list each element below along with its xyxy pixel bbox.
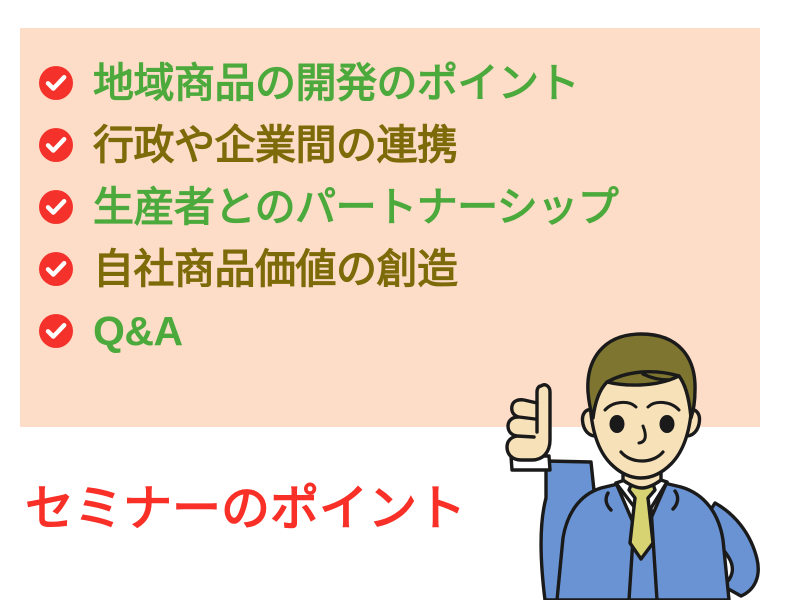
check-circle-icon	[39, 190, 73, 224]
businessman-pointing-up-illustration	[483, 328, 800, 600]
check-circle-icon	[39, 128, 73, 162]
list-item-label: 自社商品価値の創造	[93, 249, 458, 290]
list-item[interactable]: 地域商品の開発のポイント	[18, 52, 718, 114]
check-circle-icon	[39, 66, 73, 100]
list-item[interactable]: 行政や企業間の連携	[18, 114, 718, 176]
slide-canvas: 地域商品の開発のポイント 行政や企業間の連携 生産者とのパートナーシップ	[0, 0, 800, 600]
list-item-label: Q&A	[93, 311, 183, 352]
bullet-list: 地域商品の開発のポイント 行政や企業間の連携 生産者とのパートナーシップ	[18, 52, 718, 362]
list-item-label: 地域商品の開発のポイント	[93, 63, 579, 104]
list-item-label: 行政や企業間の連携	[93, 125, 458, 166]
check-circle-icon	[39, 252, 73, 286]
list-item[interactable]: 生産者とのパートナーシップ	[18, 176, 718, 238]
list-item-label: 生産者とのパートナーシップ	[93, 187, 618, 228]
list-item[interactable]: 自社商品価値の創造	[18, 238, 718, 300]
check-circle-icon	[39, 314, 73, 348]
page-title: セミナーのポイント	[25, 485, 466, 534]
